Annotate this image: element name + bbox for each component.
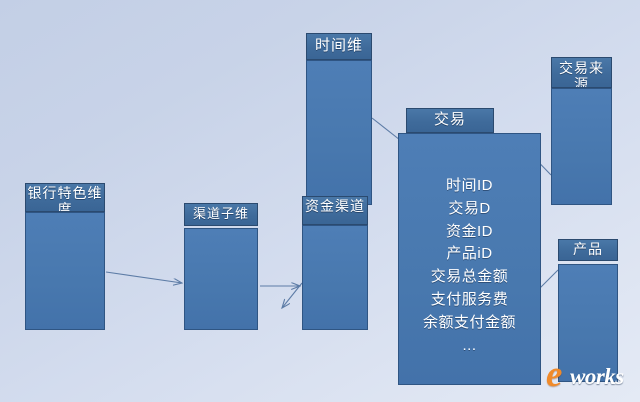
entity-title-product: 产品 bbox=[558, 239, 618, 261]
diagram-canvas: 时间维 交易来源 交易 时间ID 交易D 资金ID 产品iD 交易总金额 支付服… bbox=[0, 0, 640, 402]
connector-time-to-fact bbox=[372, 118, 400, 140]
eworks-logo-e: e bbox=[546, 356, 562, 393]
arrow-fund-downleft bbox=[282, 283, 302, 308]
entity-title-channel-sub-dimension: 渠道子维 bbox=[184, 203, 258, 226]
entity-fields-transaction-fact: 时间ID 交易D 资金ID 产品iD 交易总金额 支付服务费 余额支付金额 ..… bbox=[399, 175, 540, 357]
entity-title-bank-feature-dimension: 银行特色维度 bbox=[25, 183, 105, 212]
entity-body-bank-feature-dimension bbox=[25, 212, 105, 330]
eworks-watermark-logo: e works bbox=[546, 358, 638, 394]
entity-title-time-dimension: 时间维 bbox=[306, 33, 372, 60]
entity-box-fund-channel[interactable]: 资金渠道 bbox=[302, 196, 368, 330]
arrow-bank-to-channel bbox=[106, 272, 182, 283]
entity-title-transaction-fact: 交易 bbox=[406, 108, 494, 133]
entity-body-time-dimension bbox=[306, 60, 372, 205]
entity-title-fund-channel: 资金渠道 bbox=[302, 196, 368, 225]
entity-box-transaction-source[interactable]: 交易来源 bbox=[551, 57, 612, 205]
entity-body-transaction-fact: 时间ID 交易D 资金ID 产品iD 交易总金额 支付服务费 余额支付金额 ..… bbox=[398, 133, 541, 385]
entity-title-transaction-source: 交易来源 bbox=[551, 57, 612, 88]
entity-body-channel-sub-dimension bbox=[184, 228, 258, 330]
eworks-logo-works: works bbox=[570, 365, 624, 388]
entity-box-transaction-fact[interactable]: 交易 时间ID 交易D 资金ID 产品iD 交易总金额 支付服务费 余额支付金额… bbox=[398, 108, 541, 385]
entity-box-time-dimension[interactable]: 时间维 bbox=[306, 33, 372, 205]
entity-body-fund-channel bbox=[302, 225, 368, 330]
entity-box-channel-sub-dimension[interactable]: 渠道子维 bbox=[184, 203, 258, 330]
entity-body-transaction-source bbox=[551, 88, 612, 205]
entity-box-bank-feature-dimension[interactable]: 银行特色维度 bbox=[25, 183, 105, 330]
